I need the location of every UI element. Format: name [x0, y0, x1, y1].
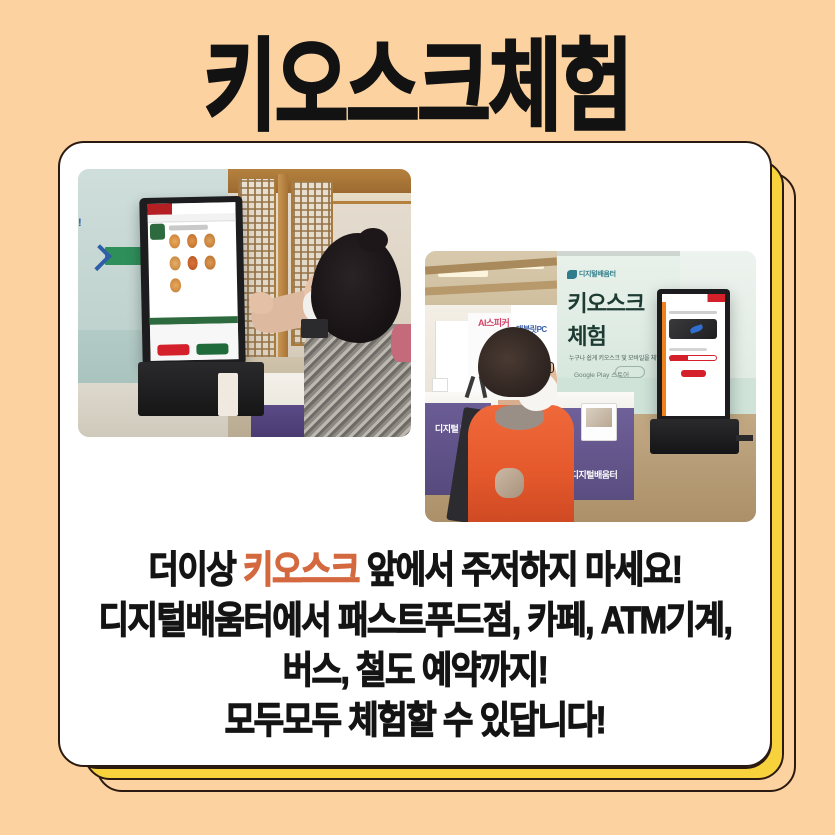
body-line-1: 더이상 키오스크 앞에서 주저하지 마세요!: [58, 545, 772, 595]
screen-top-bar: [662, 294, 725, 301]
screen-header-text: [169, 225, 208, 230]
screen-nav-bar: [147, 213, 235, 223]
body-copy: 더이상 키오스크 앞에서 주저하지 마세요! 디지털배움터에서 패스트푸드점, …: [58, 545, 772, 746]
booth-logo-text: 디지털배움터: [579, 269, 616, 279]
menu-item-6: [205, 256, 216, 270]
wood-beam-vertical: [278, 174, 289, 372]
screen-orange-sidebar: [662, 302, 666, 417]
banner-text-right: 디지털배움터: [571, 468, 618, 481]
jacket-sleeve-patch: [495, 468, 525, 498]
digital-baeumteo-logo-icon: [567, 270, 576, 279]
kiosk-base: [650, 419, 739, 454]
kiosk-screen: [147, 202, 238, 361]
screen-progress-fill: [670, 356, 689, 361]
menu-item-4: [169, 257, 180, 271]
menu-item-1: [169, 235, 180, 249]
screen-pay-button: [196, 344, 228, 356]
photo-kiosk-touch: !: [78, 169, 411, 437]
wall-sign-text: !: [78, 217, 82, 229]
person-hair-bun: [358, 228, 388, 252]
leaflet: [432, 378, 449, 392]
handheld-device: [301, 319, 328, 338]
body-line-4: 모두모두 체험할 수 있답니다!: [58, 695, 772, 745]
screen-category-tile: [149, 224, 164, 240]
screen-cancel-button: [157, 344, 189, 356]
menu-item-5: [187, 256, 198, 270]
poster-canvas: 키오스크체험 !: [0, 0, 835, 835]
menu-item-7: [170, 279, 181, 293]
body-line-1-pre: 더이상: [149, 548, 244, 590]
kiosk-cable: [736, 435, 753, 440]
screen-title-line: [669, 311, 717, 314]
booth-title-line1: 키오스크: [567, 286, 644, 318]
person-hand-touching: [249, 292, 272, 313]
background-person: [391, 324, 411, 362]
photo-booth-visitor: AI스피커 태블릿PC 디지털배움터 키오스크 체험 누구나 쉽게 키오스크 및…: [425, 251, 756, 522]
screen-action-button: [681, 370, 706, 377]
menu-item-2: [186, 235, 197, 249]
body-line-2: 디지털배움터에서 패스트푸드점, 카페, ATM기계,: [58, 595, 772, 645]
booth-title-line2: 체험: [567, 319, 605, 351]
body-line-1-post: 앞에서 주저하지 마세요!: [359, 548, 682, 590]
display-stand-image: [586, 408, 612, 427]
body-line-3: 버스, 철도 예약까지!: [58, 645, 772, 695]
screen-body-line: [669, 348, 707, 351]
menu-item-3: [204, 234, 215, 248]
kiosk-base: [138, 362, 265, 416]
receipt-paper: [218, 373, 238, 416]
page-title: 키오스크체험: [13, 38, 823, 138]
body-line-1-highlight: 키오스크: [243, 548, 359, 590]
kiosk-screen: [662, 294, 725, 416]
search-pill: [615, 366, 645, 378]
